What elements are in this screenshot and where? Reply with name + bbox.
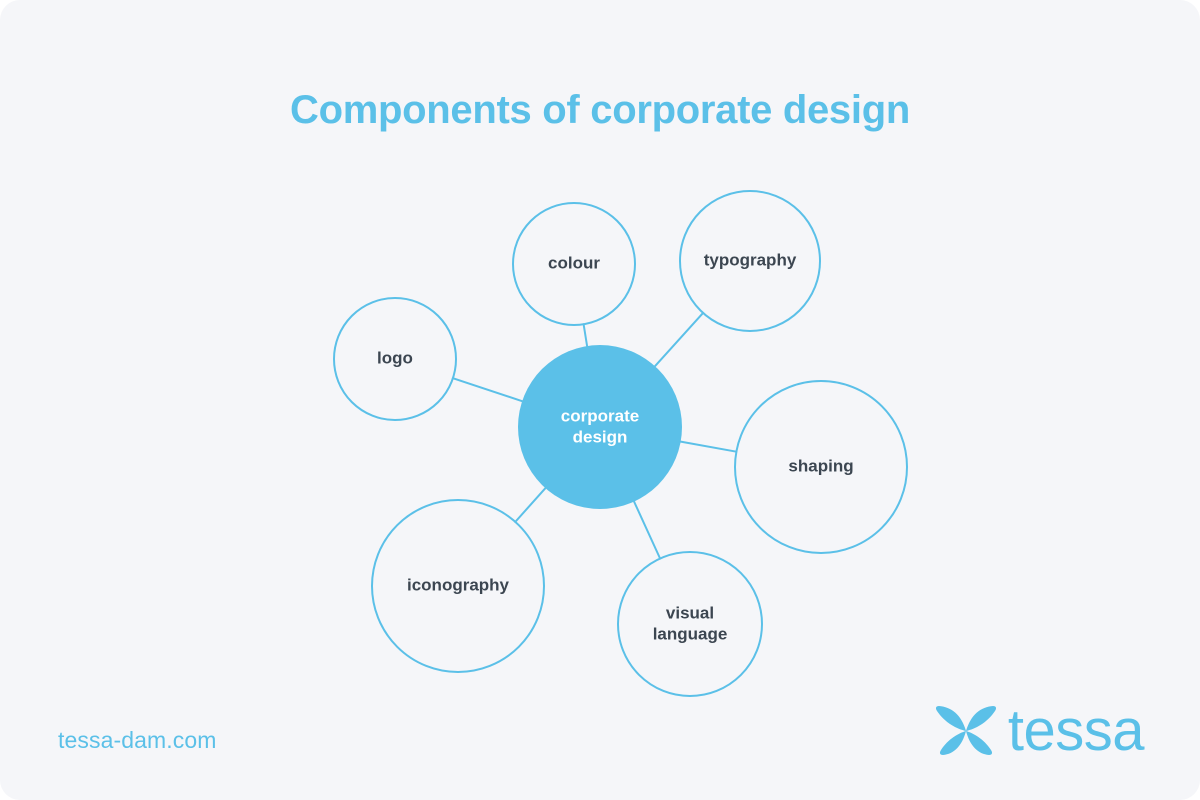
node-circle-shaping[interactable] [735, 381, 907, 553]
mind-map-diagram [0, 0, 1200, 800]
brand-logo: tessa [933, 702, 1144, 760]
edge-corporate-design-to-shaping [681, 442, 737, 452]
edge-corporate-design-to-typography [655, 313, 703, 366]
footer-website-url[interactable]: tessa-dam.com [58, 727, 217, 754]
butterfly-icon [933, 705, 999, 757]
node-circle-logo[interactable] [334, 298, 456, 420]
edge-corporate-design-to-iconography [515, 488, 545, 522]
diagram-canvas: Components of corporate design corporate… [0, 0, 1200, 800]
node-circle-corporate-design[interactable] [518, 345, 682, 509]
edge-corporate-design-to-colour [584, 324, 587, 346]
brand-wordmark: tessa [1008, 702, 1144, 760]
node-circle-colour[interactable] [513, 203, 635, 325]
node-circle-typography[interactable] [680, 191, 820, 331]
edge-corporate-design-to-logo [453, 378, 522, 401]
node-circle-iconography[interactable] [372, 500, 544, 672]
node-layer [334, 191, 907, 696]
node-circle-visual-language[interactable] [618, 552, 762, 696]
edge-corporate-design-to-visual-language [634, 502, 660, 559]
